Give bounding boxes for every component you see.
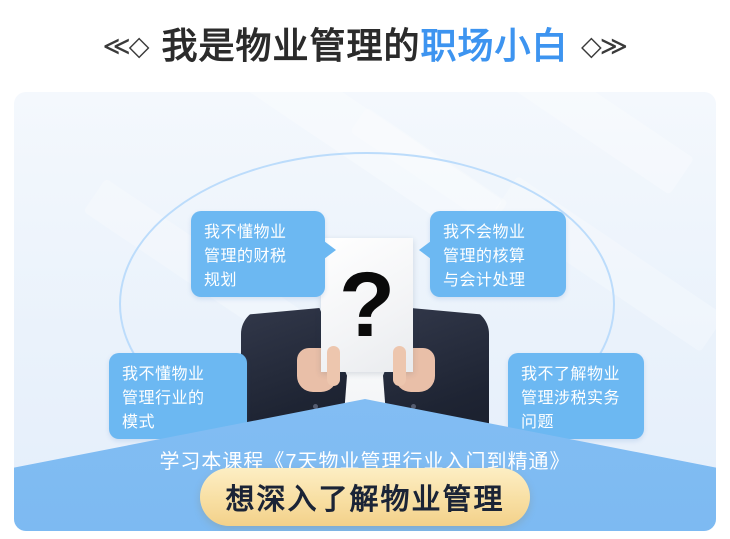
diamond-ornament-left-icon: ≪◇ [102,33,147,60]
callout-tail [419,241,431,259]
page-header: ≪◇ 我是物业管理的职场小白 ≪◇ [0,0,730,92]
callout-line: 管理的财税 [204,245,312,269]
thumb-left [327,346,340,386]
page-title-plain: 我是物业管理的 [161,25,420,66]
callout-top-left: 我不懂物业 管理的财税 规划 [191,211,325,297]
callout-line: 我不会物业 [443,221,553,245]
diamond-ornament-right-icon: ≪◇ [583,33,628,60]
callout-tail [324,241,336,259]
hero-card: ? 我不懂物业 管理的财税 规划 我不会物业 管理的核算 与会计处理 我不懂物业… [14,92,716,531]
callout-line: 规划 [204,269,312,293]
cta-button[interactable]: 想深入了解物业管理 [200,468,530,526]
thumb-right [393,346,406,386]
callout-line: 与会计处理 [443,269,553,293]
callout-top-right: 我不会物业 管理的核算 与会计处理 [430,211,566,297]
callout-line: 我不懂物业 [204,221,312,245]
callout-line: 我不了解物业 [521,363,631,387]
page-title-accent: 职场小白 [421,25,569,66]
callout-line: 我不懂物业 [122,363,234,387]
promo-banner: ≪◇ 我是物业管理的职场小白 ≪◇ [0,0,730,539]
page-title: 我是物业管理的职场小白 [161,28,568,64]
callout-line: 管理的核算 [443,245,553,269]
